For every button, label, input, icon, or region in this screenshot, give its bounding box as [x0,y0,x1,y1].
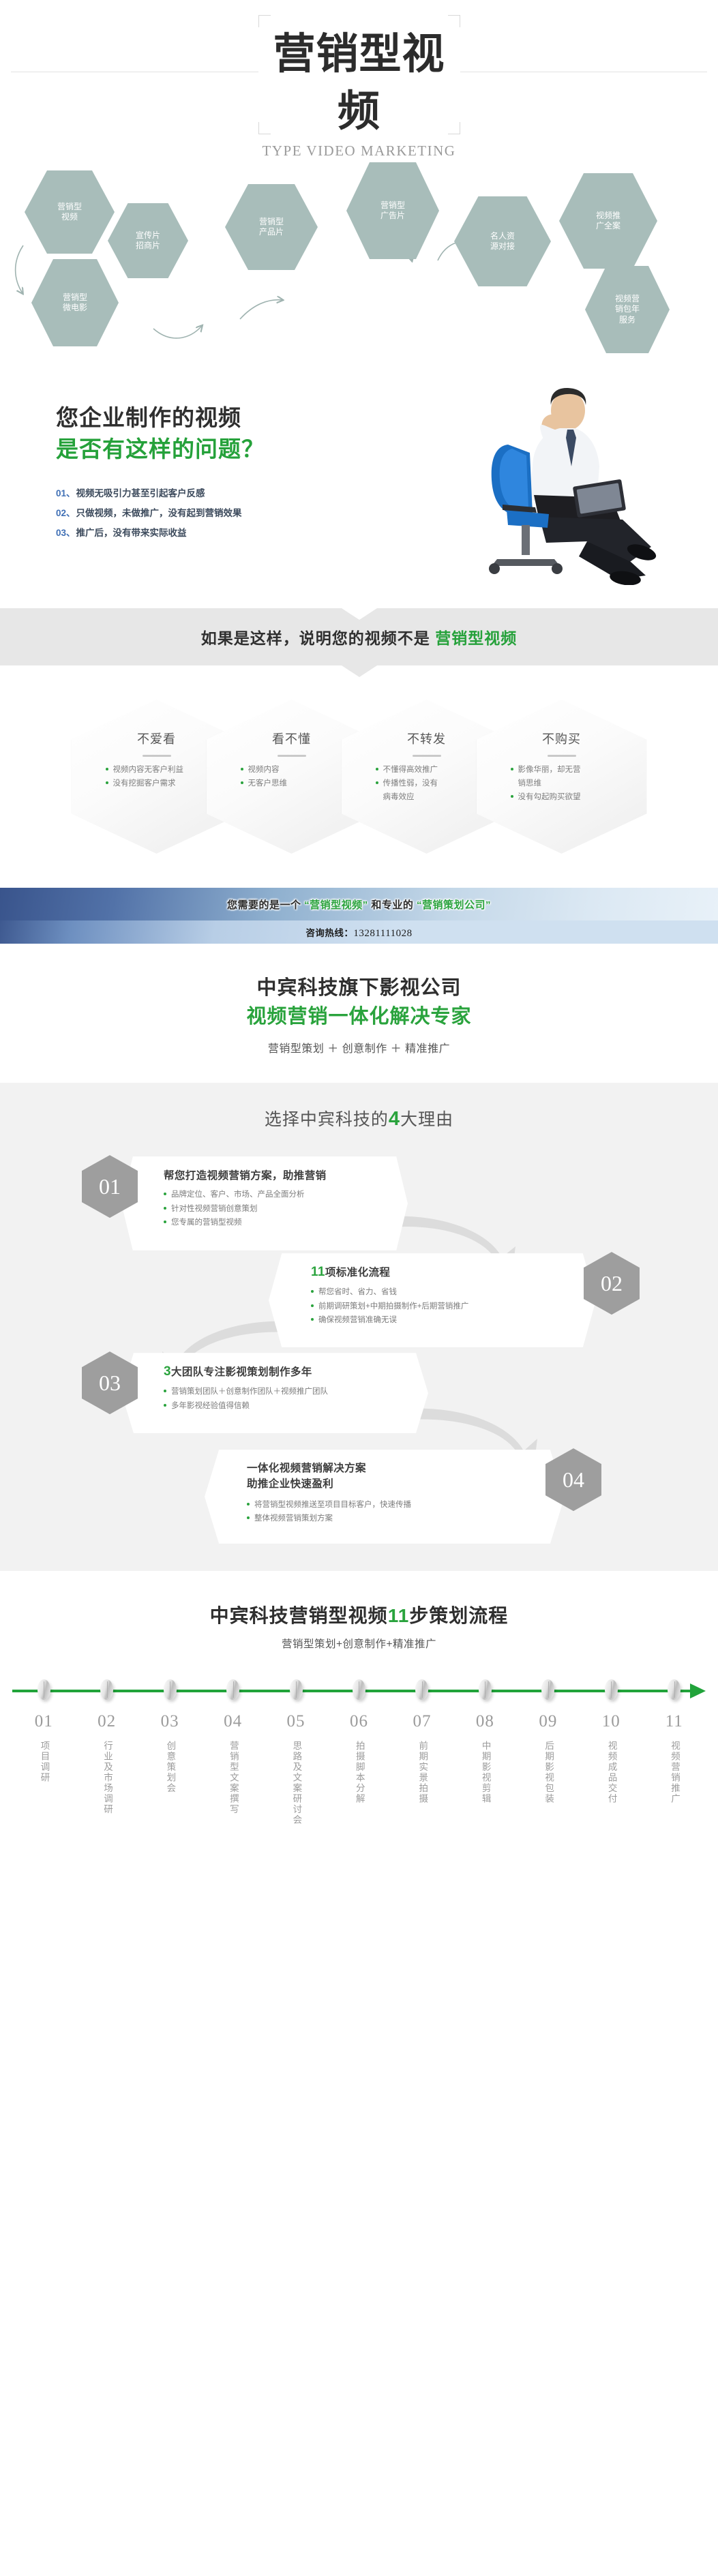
hex-card-2-bullet: 传播性弱，没有 [376,777,478,790]
hex-service-3-line-1: 广告片 [380,211,405,221]
reason-card-0-bullet: 针对性视频营销创意策划 [164,1202,370,1216]
hex-card-0-divider [143,755,171,757]
reason-card-3[interactable]: 一体化视频营销解决方案 助推企业快速盈利 将营销型视频推送至项目目标客户，快速传… [205,1450,565,1544]
timeline-subtitle: 营销型策划+创意制作+精准推广 [0,1636,718,1651]
hex-card-3-list: 影像华丽，却无营 销思维 没有勾起购买欲望 [511,764,613,805]
reason-badge-0-number: 01 [99,1174,121,1199]
reason-card-1-heading: 11项标准化流程 [311,1264,558,1280]
hex-service-6[interactable]: 营销型微电影 [31,259,119,346]
cta-headline-bar: 您需要的是一个 “营销型视频” 和专业的 “营销策划公司” [0,888,718,920]
hex-service-4[interactable]: 名人资源对接 [454,196,551,286]
timeline-title-number: 11 [388,1605,410,1626]
timeline-step-3[interactable]: 04 营销型文案撰写 [201,1712,264,1829]
hex-card-0-bullet: 没有挖掘客户需求 [106,777,208,790]
timeline-step-1[interactable]: 02 行业及市场调研 [75,1712,138,1829]
hex-card-0-title: 不爱看 [137,730,176,747]
timeline-node-icon-8[interactable] [541,1679,554,1700]
problem-item-number: 01、 [56,488,76,498]
reason-card-2-bullet: 多年影视经验值得信赖 [164,1399,390,1413]
timeline-step-0-label: 项目调研 [35,1741,53,1783]
hex-card-1-bullet: 无客户思维 [241,777,343,790]
hex-card-1-list: 视频内容 无客户思维 [241,764,343,791]
hex-service-4-line-1: 源对接 [490,241,515,252]
timeline-title-prefix: 中宾科技营销型视频 [210,1605,388,1626]
timeline-node-icon-0[interactable] [38,1679,50,1700]
conclusion-text-accent: 营销型视频 [435,629,517,647]
reasons-title-suffix: 大理由 [400,1110,453,1129]
timeline-node-icon-5[interactable] [353,1679,365,1700]
hex-service-1-line-1: 招商片 [136,241,160,251]
problem-section: 您企业制作的视频 是否有这样的问题？ 01、视频无吸引力甚至引起客户反感 02、… [0,376,718,601]
hex-card-0-list: 视频内容无客户利益 没有挖掘客户需求 [106,764,208,791]
reason-card-1-heading-rest: 项标准化流程 [325,1267,390,1278]
banner-notch-bottom-icon [342,665,377,677]
timeline-steps: 01 项目调研 02 行业及市场调研 03 创意策划会 04 营销型文案撰写 0… [12,1712,706,1829]
hex-card-2-divider [413,755,441,757]
hex-service-3-line-0: 营销型 [380,200,405,211]
reason-row-2: 03 3大团队专注影视策划制作多年 营销策划团队＋创意制作团队＋视频推广团队 多… [0,1350,718,1443]
problem-hexagon-cards: 不爱看 视频内容无客户利益 没有挖掘客户需求 看不懂 视频内容 无客户思维 不转… [0,700,718,856]
timeline-step-3-number: 04 [201,1712,264,1731]
service-hexagon-cloud: 营销型视频 宣传片招商片 营销型产品片 营销型广告片 名人资源对接 视频推广全案… [0,158,718,363]
hex-service-4-line-0: 名人资 [490,231,515,241]
cta-quote-video: “营销型视频” [304,899,368,911]
frame-corner-bottom-left-icon [258,122,271,134]
conclusion-text-plain: 如果是这样，说明您的视频不是 [201,629,435,647]
reason-card-2-heading: 3大团队专注影视策划制作多年 [164,1364,390,1379]
timeline-section: 中宾科技营销型视频11步策划流程 营销型策划+创意制作+精准推广 01 项目调研… [0,1571,718,1860]
company-headline-section: 中宾科技旗下影视公司 视频营销一体化解决专家 营销型策划 ＋ 创意制作 ＋ 精准… [0,944,718,1083]
timeline-node-icon-9[interactable] [605,1679,618,1700]
hex-service-5-line-0: 视频推 [596,211,620,221]
hex-card-1-divider [278,755,306,757]
problem-list-item: 01、视频无吸引力甚至引起客户反感 [56,483,265,503]
timeline-step-1-label: 行业及市场调研 [98,1741,115,1815]
hex-service-7[interactable]: 视频营销包年服务 [585,266,670,353]
timeline-step-9[interactable]: 10 视频成品交付 [580,1712,642,1829]
reason-card-0-bullet: 品牌定位、客户、市场、产品全面分析 [164,1188,370,1201]
timeline-node-icon-2[interactable] [164,1679,177,1700]
hex-card-2-list: 不懂得高效推广 传播性弱，没有 病毒效应 [376,764,478,805]
conclusion-banner: 如果是这样，说明您的视频不是 营销型视频 [0,608,718,665]
timeline-nodes [12,1679,706,1700]
timeline-step-8-number: 09 [517,1712,580,1731]
cta-hotline-bar[interactable]: 咨询热线：13281111028 [0,920,718,944]
conclusion-banner-text: 如果是这样，说明您的视频不是 营销型视频 [201,625,517,648]
hex-card-1-bullet: 视频内容 [241,764,343,777]
timeline-step-7[interactable]: 08 中期影视剪辑 [453,1712,516,1829]
reason-card-2-bullet: 营销策划团队＋创意制作团队＋视频推广团队 [164,1385,390,1398]
problem-heading-line1: 您企业制作的视频 [56,402,265,434]
timeline-step-4[interactable]: 05 思路及文案研讨会 [265,1712,327,1829]
businessman-photo [426,380,699,585]
reason-card-1[interactable]: 11项标准化流程 帮您省时、省力、省钱 前期调研策划+中期拍摄制作+后期营销推广… [269,1253,596,1347]
page-title: 营销型视频 [258,15,460,140]
problem-item-text: 推广后，没有带来实际收益 [76,528,187,538]
reason-row-3: 04 一体化视频营销解决方案 助推企业快速盈利 将营销型视频推送至项目目标客户，… [0,1443,718,1538]
reason-card-3-bullet: 整体视频营销策划方案 [247,1512,526,1525]
problem-list: 01、视频无吸引力甚至引起客户反感 02、只做视频，未做推广，没有起到营销效果 … [56,483,265,543]
reason-card-2[interactable]: 3大团队专注影视策划制作多年 营销策划团队＋创意制作团队＋视频推广团队 多年影视… [121,1353,428,1433]
reasons-section-title: 选择中宾科技的4大理由 [0,1106,718,1130]
reason-card-0-heading: 帮您打造视频营销方案，助推营销 [164,1167,370,1182]
hex-service-0-line-1: 视频 [57,212,82,222]
frame-corner-bottom-right-icon [448,122,460,134]
reasons-title-number: 4 [389,1108,400,1130]
banner-notch-top-icon [342,608,377,620]
hex-service-2[interactable]: 营销型产品片 [225,184,318,270]
hotline-number[interactable]: 13281111028 [353,928,412,939]
reason-card-1-bullet: 帮您省时、省力、省钱 [311,1285,558,1299]
hex-service-7-line-2: 服务 [615,315,640,325]
cta-quote-company: “营销策划公司” [417,899,491,911]
page-subtitle-en: TYPE VIDEO MARKETING [258,143,460,160]
hex-service-5[interactable]: 视频推广全案 [559,173,657,269]
timeline-step-6-number: 07 [391,1712,453,1731]
timeline-step-7-number: 08 [453,1712,516,1731]
reason-card-0-bullet: 您专属的营销型视频 [164,1216,370,1229]
timeline-step-10-label: 视频营销推广 [665,1741,683,1804]
reasons-section: 选择中宾科技的4大理由 01 帮您打造视频营销方案，助推营销 品牌定位、客户、市… [0,1083,718,1571]
hex-service-3[interactable]: 营销型广告片 [346,162,439,259]
hex-service-7-line-0: 视频营 [615,294,640,304]
problem-heading-line2: 是否有这样的问题？ [56,434,265,465]
hex-card-2-bullet-continuation: 病毒效应 [376,791,478,804]
problem-item-number: 03、 [56,528,76,538]
problem-item-text: 视频无吸引力甚至引起客户反感 [76,488,205,498]
hex-card-3-bullet: 没有勾起购买欲望 [511,791,613,804]
timeline-step-5-label: 拍摄脚本分解 [350,1741,368,1804]
cta-hotline-text: 咨询热线：13281111028 [305,925,412,940]
hex-card-3-bullet: 影像华丽，却无营 [511,764,613,777]
reason-badge-3-number: 04 [563,1467,584,1493]
timeline-step-9-label: 视频成品交付 [603,1741,620,1804]
timeline-step-2-number: 03 [138,1712,201,1731]
timeline-step-2[interactable]: 03 创意策划会 [138,1712,201,1829]
hex-service-1[interactable]: 宣传片招商片 [108,203,188,278]
hex-service-6-line-1: 微电影 [63,303,87,313]
hex-service-0-line-0: 营销型 [57,202,82,212]
frame-corner-top-right-icon [448,15,460,27]
company-services-subtitle: 营销型策划 ＋ 创意制作 ＋ 精准推广 [0,1039,718,1055]
timeline-title-suffix: 步策划流程 [409,1605,508,1626]
company-name-heading: 中宾科技旗下影视公司 [0,974,718,1002]
timeline-step-8[interactable]: 09 后期影视包装 [517,1712,580,1829]
hex-service-5-line-1: 广全案 [596,221,620,231]
problem-item-text: 只做视频，未做推广，没有起到营销效果 [76,508,242,518]
timeline-step-9-number: 10 [580,1712,642,1731]
reason-card-3-bullet: 将营销型视频推送至项目目标客户，快速传播 [247,1498,526,1512]
reason-card-2-heading-rest: 大团队专注影视策划制作多年 [171,1366,312,1378]
company-tagline-heading: 视频营销一体化解决专家 [0,1002,718,1031]
problem-item-number: 02、 [56,508,76,518]
timeline-step-7-label: 中期影视剪辑 [477,1741,494,1804]
cta-banner: 您需要的是一个 “营销型视频” 和专业的 “营销策划公司” 咨询热线：13281… [0,888,718,944]
timeline-node-icon-6[interactable] [415,1679,428,1700]
hex-service-1-line-0: 宣传片 [136,230,160,241]
hex-card-3-bullet-continuation: 销思维 [511,777,613,790]
reason-card-2-heading-number: 3 [164,1364,171,1379]
timeline-node-icon-4[interactable] [290,1679,303,1700]
reason-badge-1-number: 02 [601,1271,623,1296]
timeline-step-8-label: 后期影视包装 [540,1741,557,1804]
hotline-label: 咨询热线： [305,928,353,938]
reason-card-1-heading-number: 11 [311,1265,325,1279]
timeline-step-5-number: 06 [327,1712,390,1731]
hex-service-0[interactable]: 营销型视频 [25,170,115,254]
reason-card-1-bullet: 前期调研策划+中期拍摄制作+后期营销推广 [311,1300,558,1313]
timeline-title: 中宾科技营销型视频11步策划流程 [0,1601,718,1628]
hex-card-2-bullet: 不懂得高效推广 [376,764,478,777]
timeline-node-icon-10[interactable] [668,1679,680,1700]
timeline-step-0[interactable]: 01 项目调研 [12,1712,75,1829]
hex-card-0-bullet: 视频内容无客户利益 [106,764,208,777]
hex-card-3-title: 不购买 [542,730,581,747]
reason-card-0[interactable]: 帮您打造视频营销方案，助推营销 品牌定位、客户、市场、产品全面分析 针对性视频营… [121,1156,408,1250]
timeline-track [12,1679,706,1703]
cta-text-part-a: 您需要的是一个 [227,899,304,911]
timeline-node-icon-3[interactable] [226,1679,239,1700]
cta-text-part-b: 和专业的 [368,899,417,911]
hex-service-6-line-0: 营销型 [63,293,87,303]
reason-card-1-bullet: 确保视频营销准确无误 [311,1313,558,1327]
timeline-step-0-number: 01 [12,1712,75,1731]
hex-card-2-title: 不转发 [407,730,446,747]
timeline-step-2-label: 创意策划会 [162,1741,179,1794]
reason-card-3-heading: 一体化视频营销解决方案 助推企业快速盈利 [247,1461,526,1493]
timeline-step-10-number: 11 [643,1712,706,1731]
frame-corner-top-left-icon [258,15,271,27]
timeline-step-10[interactable]: 11 视频营销推广 [643,1712,706,1829]
timeline-node-icon-1[interactable] [100,1679,113,1700]
hex-service-2-line-1: 产品片 [259,227,284,237]
timeline-step-6[interactable]: 07 前期实景拍摄 [391,1712,453,1829]
hex-service-7-line-1: 销包年 [615,304,640,314]
timeline-step-3-label: 营销型文案撰写 [224,1741,241,1815]
reason-row-0: 01 帮您打造视频营销方案，助推营销 品牌定位、客户、市场、产品全面分析 针对性… [0,1148,718,1249]
reason-badge-2-number: 03 [99,1371,121,1396]
problem-list-item: 02、只做视频，未做推广，没有起到营销效果 [56,503,265,523]
problem-list-item: 03、推广后，没有带来实际收益 [56,523,265,543]
cta-headline-text: 您需要的是一个 “营销型视频” 和专业的 “营销策划公司” [227,897,491,912]
timeline-step-1-number: 02 [75,1712,138,1731]
hex-card-1-title: 看不懂 [272,730,311,747]
page-header: 营销型视频 TYPE VIDEO MARKETING [0,0,718,158]
reasons-title-prefix: 选择中宾科技的 [265,1110,389,1129]
problem-copy: 您企业制作的视频 是否有这样的问题？ 01、视频无吸引力甚至引起客户反感 02、… [56,402,265,543]
header-title-frame: 营销型视频 TYPE VIDEO MARKETING [258,15,460,134]
timeline-node-icon-7[interactable] [479,1679,492,1700]
timeline-step-6-label: 前期实景拍摄 [414,1741,431,1804]
timeline-step-4-number: 05 [265,1712,327,1731]
timeline-step-5[interactable]: 06 拍摄脚本分解 [327,1712,390,1829]
timeline-step-4-label: 思路及文案研讨会 [288,1741,305,1825]
hex-service-2-line-0: 营销型 [259,217,284,227]
hex-card-3-divider [548,755,576,757]
hex-card-3[interactable]: 不购买 影像华丽，却无营 销思维 没有勾起购买欲望 [477,700,647,854]
reason-row-1: 02 11项标准化流程 帮您省时、省力、省钱 前期调研策划+中期拍摄制作+后期营… [0,1249,718,1350]
